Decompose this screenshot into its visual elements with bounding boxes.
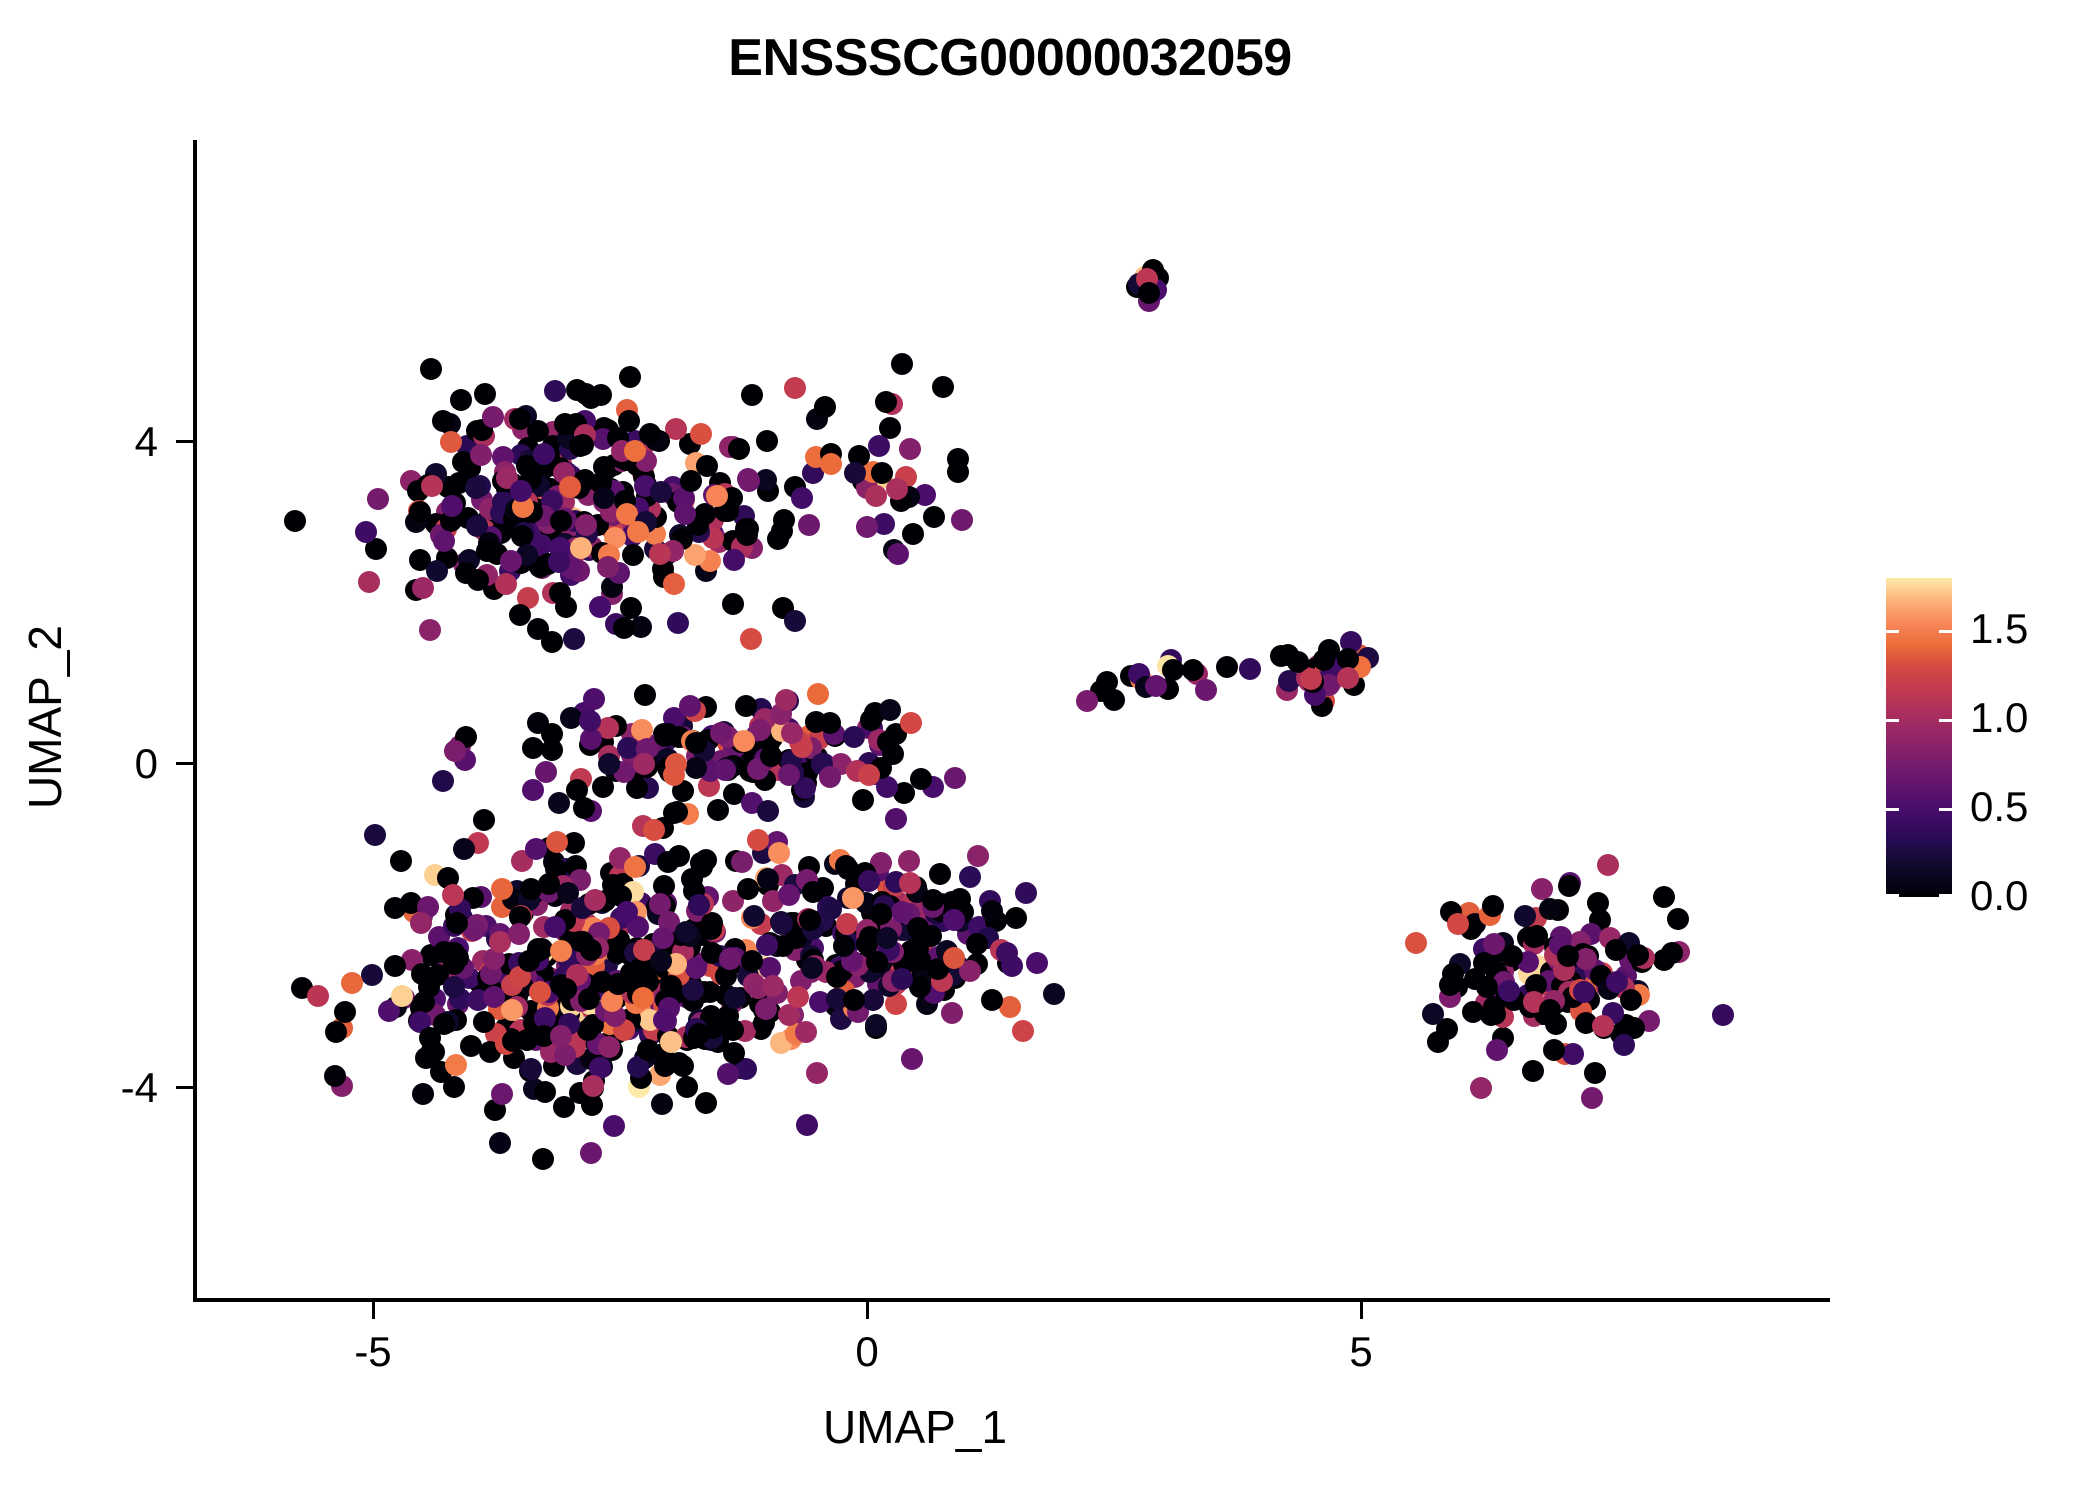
scatter-point	[1581, 1087, 1603, 1109]
scatter-point	[762, 975, 784, 997]
scatter-point	[324, 1065, 346, 1087]
scatter-point	[1482, 895, 1504, 917]
scatter-point	[875, 391, 897, 413]
scatter-point	[1523, 926, 1545, 948]
scatter-point	[634, 684, 656, 706]
scatter-point	[898, 850, 920, 872]
scatter-point	[820, 898, 842, 920]
scatter-point	[550, 940, 572, 962]
scatter-point	[1539, 898, 1561, 920]
scatter-point	[473, 1011, 495, 1033]
scatter-point	[1103, 689, 1125, 711]
scatter-point	[550, 510, 572, 532]
scatter-point	[444, 740, 466, 762]
scatter-point	[870, 903, 892, 925]
scatter-point	[690, 423, 712, 445]
scatter-point	[619, 366, 641, 388]
scatter-point	[1470, 1077, 1492, 1099]
scatter-point	[901, 1048, 923, 1070]
scatter-point	[455, 562, 477, 584]
scatter-point	[1195, 679, 1217, 701]
scatter-point	[441, 495, 463, 517]
x-tick-label: 5	[1281, 1328, 1441, 1376]
scatter-point	[657, 851, 679, 873]
scatter-point	[675, 921, 697, 943]
scatter-point	[860, 709, 882, 731]
scatter-point	[580, 939, 602, 961]
scatter-point	[700, 918, 722, 940]
scatter-point	[1239, 658, 1261, 680]
scatter-point	[1026, 952, 1048, 974]
scatter-point	[676, 1076, 698, 1098]
scatter-point	[784, 377, 806, 399]
scatter-point	[996, 942, 1018, 964]
scatter-point	[747, 829, 769, 851]
scatter-point	[907, 917, 929, 939]
scatter-point	[1300, 668, 1322, 690]
scatter-point	[819, 766, 841, 788]
scatter-point	[527, 618, 549, 640]
scatter-point	[509, 604, 531, 626]
colorbar-tick	[1939, 719, 1952, 722]
scatter-point	[445, 1054, 467, 1076]
scatter-point	[508, 923, 530, 945]
scatter-point	[672, 1055, 694, 1077]
scatter-point	[820, 453, 842, 475]
scatter-point	[891, 353, 913, 375]
x-axis-title: UMAP_1	[0, 1400, 1830, 1454]
plot-panel	[195, 140, 1830, 1300]
scatter-point	[891, 968, 913, 990]
scatter-point	[666, 801, 688, 823]
scatter-point	[1712, 1004, 1734, 1026]
scatter-point	[550, 1025, 572, 1047]
scatter-point	[771, 913, 793, 935]
scatter-point	[802, 881, 824, 903]
scatter-point	[491, 1083, 513, 1105]
scatter-point	[566, 779, 588, 801]
scatter-point	[737, 468, 759, 490]
y-axis-line	[193, 140, 197, 1302]
scatter-point	[534, 1081, 556, 1103]
colorbar-tick	[1939, 630, 1952, 633]
scatter-point	[755, 998, 777, 1020]
scatter-point	[566, 379, 588, 401]
scatter-point	[412, 577, 434, 599]
scatter-point	[1653, 886, 1675, 908]
scatter-point	[1012, 1020, 1034, 1042]
scatter-point	[548, 551, 570, 573]
scatter-point	[844, 462, 866, 484]
scatter-point	[663, 573, 685, 595]
page-title: ENSSSCG00000032059	[0, 28, 2020, 88]
scatter-point	[1543, 1039, 1565, 1061]
scatter-point	[674, 503, 696, 525]
x-tick-mark	[372, 1302, 375, 1319]
scatter-point	[688, 1023, 710, 1045]
scatter-point	[1587, 892, 1609, 914]
scatter-point	[570, 537, 592, 559]
scatter-point	[544, 916, 566, 938]
scatter-point	[446, 912, 468, 934]
y-tick-label: -4	[0, 1064, 158, 1112]
scatter-point	[778, 1004, 800, 1026]
scatter-point	[876, 927, 898, 949]
scatter-point	[836, 913, 858, 935]
colorbar-legend: 1.5 1.0 0.5 0.0	[1886, 578, 1952, 897]
scatter-point	[1558, 875, 1580, 897]
scatter-point	[361, 964, 383, 986]
scatter-point	[1043, 983, 1065, 1005]
y-axis-title: UMAP_2	[18, 367, 72, 1067]
scatter-point	[563, 628, 585, 650]
scatter-point	[807, 683, 829, 705]
scatter-point	[541, 723, 563, 745]
scatter-point	[554, 1044, 576, 1066]
scatter-point	[757, 868, 779, 890]
scatter-point	[768, 842, 790, 864]
scatter-point	[756, 934, 778, 956]
scatter-point	[743, 905, 765, 927]
colorbar-tick	[1939, 894, 1952, 897]
scatter-point	[852, 789, 874, 811]
scatter-point	[1667, 908, 1689, 930]
scatter-point	[909, 949, 931, 971]
y-tick-mark	[176, 440, 193, 443]
scatter-point	[501, 999, 523, 1021]
x-tick-mark	[1360, 1302, 1363, 1319]
scatter-point	[443, 1076, 465, 1098]
scatter-point	[1216, 656, 1238, 678]
scatter-point	[421, 475, 443, 497]
scatter-point	[778, 764, 800, 786]
scatter-point	[440, 431, 462, 453]
scatter-point	[714, 759, 736, 781]
scatter-point	[597, 556, 619, 578]
scatter-point	[833, 935, 855, 957]
scatter-point	[1501, 945, 1523, 967]
scatter-point	[579, 710, 601, 732]
scatter-point	[665, 753, 687, 775]
scatter-point	[474, 383, 496, 405]
scatter-point	[791, 487, 813, 509]
scatter-point	[384, 897, 406, 919]
scatter-point	[862, 989, 884, 1011]
colorbar-tick	[1886, 808, 1899, 811]
scatter-point	[660, 1031, 682, 1053]
colorbar-label: 0.0	[1970, 872, 2028, 920]
scatter-point	[1405, 932, 1427, 954]
scatter-point	[1145, 675, 1167, 697]
scatter-point	[1613, 1034, 1635, 1056]
scatter-point	[584, 889, 606, 911]
scatter-point	[384, 955, 406, 977]
scatter-point	[598, 1036, 620, 1058]
scatter-point	[633, 753, 655, 775]
scatter-point	[796, 1114, 818, 1136]
scatter-point	[509, 408, 531, 430]
scatter-point	[784, 610, 806, 632]
scatter-point	[1138, 282, 1160, 304]
scatter-point	[489, 1132, 511, 1154]
colorbar-label: 1.0	[1970, 694, 2028, 742]
scatter-point	[284, 510, 306, 532]
scatter-point	[460, 1035, 482, 1057]
colorbar-label: 0.5	[1970, 783, 2028, 831]
scatter-point	[871, 462, 893, 484]
scatter-point	[865, 1014, 887, 1036]
scatter-point	[943, 909, 965, 931]
scatter-point	[724, 987, 746, 1009]
colorbar-tick	[1886, 630, 1899, 633]
scatter-point	[1439, 974, 1461, 996]
scatter-point	[902, 523, 924, 545]
colorbar-gradient	[1886, 578, 1952, 897]
scatter-point	[578, 988, 600, 1010]
scatter-point	[781, 722, 803, 744]
scatter-point	[1076, 690, 1098, 712]
scatter-point	[1462, 1001, 1484, 1023]
scatter-point	[929, 863, 951, 885]
scatter-point	[886, 478, 908, 500]
scatter-point	[798, 514, 820, 536]
scatter-point	[549, 582, 571, 604]
scatter-point	[465, 477, 487, 499]
scatter-point	[722, 1019, 744, 1041]
scatter-point	[355, 521, 377, 543]
scatter-point	[1592, 1015, 1614, 1037]
scatter-point	[1514, 905, 1536, 927]
figure-root: ENSSSCG00000032059 -5 0 5 4 0 -4 UMAP_1 …	[0, 0, 2100, 1500]
scatter-point	[723, 549, 745, 571]
scatter-point	[616, 901, 638, 923]
scatter-point	[900, 712, 922, 734]
scatter-point	[419, 619, 441, 641]
scatter-point	[719, 948, 741, 970]
scatter-point	[639, 423, 661, 445]
scatter-point	[575, 514, 597, 536]
x-axis-line	[193, 1298, 1830, 1302]
scatter-point	[1476, 976, 1498, 998]
scatter-point	[643, 819, 665, 841]
scatter-point	[412, 1083, 434, 1105]
scatter-point	[554, 413, 576, 435]
scatter-point	[1522, 1060, 1544, 1082]
scatter-point	[334, 1001, 356, 1023]
scatter-point	[443, 976, 465, 998]
scatter-point	[787, 986, 809, 1008]
scatter-point	[527, 420, 549, 442]
scatter-point	[757, 800, 779, 822]
scatter-point	[778, 884, 800, 906]
scatter-point	[688, 894, 710, 916]
scatter-point	[887, 543, 909, 565]
scatter-point	[717, 1063, 739, 1085]
scatter-point	[341, 972, 363, 994]
scatter-point	[932, 376, 954, 398]
scatter-point	[502, 1030, 524, 1052]
colorbar-tick	[1939, 808, 1952, 811]
scatter-point	[1182, 659, 1204, 681]
scatter-point	[947, 448, 969, 470]
scatter-point	[410, 912, 432, 934]
scatter-point	[767, 528, 789, 550]
scatter-point	[632, 987, 654, 1009]
scatter-point	[583, 688, 605, 710]
scatter-point	[1447, 913, 1469, 935]
scatter-point	[879, 699, 901, 721]
scatter-point	[433, 941, 455, 963]
scatter-point	[546, 831, 568, 853]
scatter-point	[899, 438, 921, 460]
scatter-point	[476, 540, 498, 562]
colorbar-tick	[1886, 719, 1899, 722]
scatter-point	[577, 1019, 599, 1041]
x-tick-label: 0	[787, 1328, 947, 1376]
scatter-point	[923, 506, 945, 528]
scatter-point	[695, 1092, 717, 1114]
scatter-point	[922, 889, 944, 911]
scatter-point	[1162, 659, 1184, 681]
scatter-point	[868, 435, 890, 457]
scatter-point	[1557, 945, 1579, 967]
scatter-point	[1597, 854, 1619, 876]
scatter-point	[627, 521, 649, 543]
scatter-point	[511, 525, 533, 547]
scatter-point	[865, 485, 887, 507]
scatter-point	[899, 872, 921, 894]
scatter-point	[1627, 944, 1649, 966]
scatter-point	[1422, 1003, 1444, 1025]
scatter-point	[735, 695, 757, 717]
colorbar-tick	[1886, 894, 1899, 897]
scatter-point	[731, 851, 753, 873]
scatter-point	[799, 909, 821, 931]
scatter-point	[413, 991, 435, 1013]
scatter-point	[652, 927, 674, 949]
scatter-point	[520, 1058, 542, 1080]
scatter-point	[1427, 1031, 1449, 1053]
scatter-point	[470, 444, 492, 466]
scatter-point	[650, 950, 672, 972]
scatter-point	[1573, 981, 1595, 1003]
x-tick-label: -5	[293, 1328, 453, 1376]
y-tick-mark	[176, 1086, 193, 1089]
scatter-point	[1605, 939, 1627, 961]
scatter-point	[650, 481, 672, 503]
scatter-point	[966, 933, 988, 955]
scatter-point	[805, 711, 827, 733]
colorbar-label: 1.5	[1970, 605, 2028, 653]
scatter-point	[737, 878, 759, 900]
scatter-point	[660, 975, 682, 997]
x-tick-mark	[866, 1302, 869, 1319]
scatter-point	[858, 764, 880, 786]
scatter-point	[473, 809, 495, 831]
scatter-point	[723, 1042, 745, 1064]
scatter-point	[1337, 667, 1359, 689]
scatter-point	[653, 1009, 675, 1031]
scatter-point	[453, 838, 475, 860]
scatter-point	[390, 850, 412, 872]
scatter-point	[555, 978, 577, 1000]
scatter-point	[432, 410, 454, 432]
scatter-point	[491, 878, 513, 900]
scatter-point	[885, 808, 907, 830]
scatter-point	[593, 487, 615, 509]
scatter-point	[532, 1148, 554, 1170]
scatter-point	[358, 571, 380, 593]
scatter-point	[649, 893, 671, 915]
scatter-point	[944, 767, 966, 789]
y-tick-mark	[176, 762, 193, 765]
scatter-point	[877, 731, 899, 753]
scatter-point	[325, 1021, 347, 1043]
scatter-point	[856, 516, 878, 538]
scatter-point	[518, 950, 540, 972]
scatter-point	[391, 985, 413, 1007]
scatter-point	[775, 689, 797, 711]
scatter-point	[535, 761, 557, 783]
scatter-point	[603, 1115, 625, 1137]
scatter-point	[607, 973, 629, 995]
scatter-point	[801, 957, 823, 979]
scatter-point	[710, 722, 732, 744]
scatter-point	[624, 856, 646, 878]
scatter-point	[1318, 639, 1340, 661]
scatter-point	[685, 732, 707, 754]
scatter-point	[419, 1027, 441, 1049]
scatter-point	[866, 951, 888, 973]
scatter-point	[544, 380, 566, 402]
scatter-point	[941, 1002, 963, 1024]
